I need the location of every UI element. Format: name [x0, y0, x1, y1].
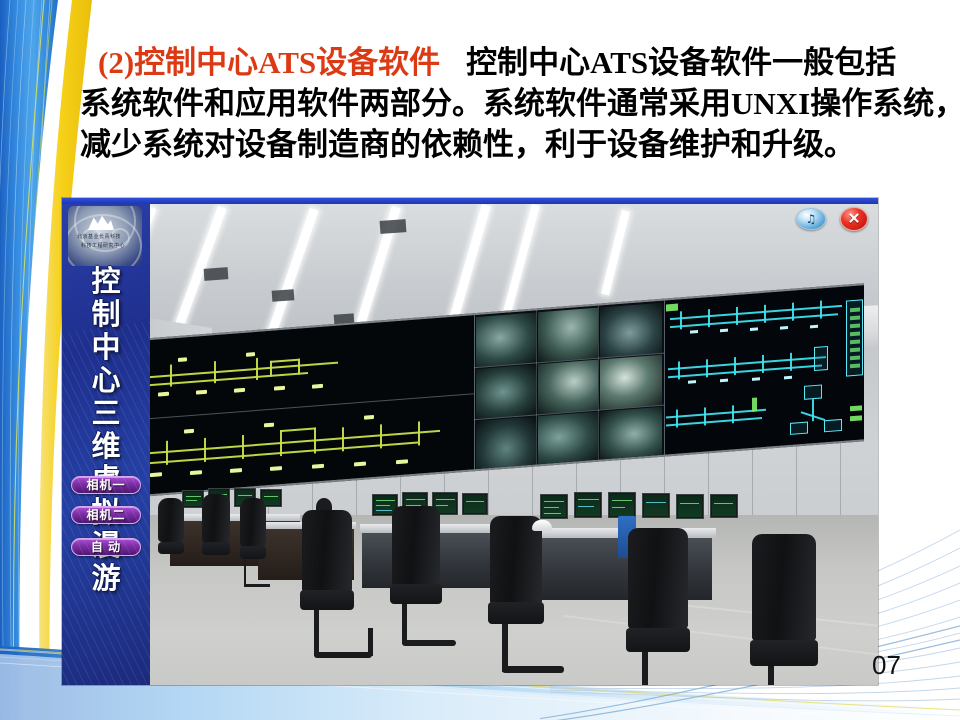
text-line-1-rest: 控制中心ATS设备软件一般包括 — [466, 45, 896, 80]
viewer-control-panel: 北京基业长青科技 科技工程研究中心 控 制 中 心 三 维 虚 拟 漫 游 相机… — [62, 204, 150, 685]
page-number: 07 — [872, 650, 901, 681]
slide-body-text: (2)控制中心ATS设备软件控制中心ATS设备软件一般包括 系统软件和应用软件两… — [80, 42, 940, 165]
logo-text-line-1: 北京基业长青科技 — [77, 233, 121, 240]
music-note-icon: ♫ — [806, 213, 817, 225]
close-window-button[interactable]: ✕ — [840, 207, 868, 231]
title-char-4: 三 — [78, 398, 134, 431]
title-char-0: 控 — [78, 266, 134, 299]
chair — [202, 494, 230, 560]
title-char-8: 漫 — [78, 530, 134, 563]
chair — [628, 528, 688, 664]
chair — [158, 498, 184, 558]
title-char-6: 虚 — [78, 464, 134, 497]
title-char-5: 维 — [78, 431, 134, 464]
screenshot-titlebar — [62, 198, 878, 204]
organization-logo: 北京基业长青科技 科技工程研究中心 — [68, 206, 142, 266]
hardhat — [532, 520, 552, 531]
text-line-3: 减少系统对设备制造商的依赖性，利于设备维护和升级。 — [80, 124, 940, 165]
chair — [392, 506, 440, 614]
sound-toggle-button[interactable]: ♫ — [796, 208, 826, 230]
text-line-2: 系统软件和应用软件两部分。系统软件通常采用UNXI操作系统， — [80, 83, 940, 124]
camera-one-button[interactable]: 相机一 — [71, 476, 141, 494]
logo-text-line-2: 科技工程研究中心 — [81, 242, 125, 249]
title-char-1: 制 — [78, 299, 134, 332]
title-char-7: 拟 — [78, 497, 134, 530]
slide-canvas: (2)控制中心ATS设备软件控制中心ATS设备软件一般包括 系统软件和应用软件两… — [0, 0, 960, 720]
title-char-3: 心 — [78, 365, 134, 398]
close-icon: ✕ — [848, 212, 861, 227]
videowall-cctv-section — [474, 301, 664, 470]
title-char-2: 中 — [78, 332, 134, 365]
videowall-signal-diagram-section — [664, 285, 864, 454]
title-char-9: 游 — [78, 563, 134, 596]
text-line-1: (2)控制中心ATS设备软件控制中心ATS设备软件一般包括 — [80, 42, 940, 83]
chair — [302, 510, 352, 622]
viewer-title-vertical: 控 制 中 心 三 维 虚 拟 漫 游 — [78, 266, 134, 596]
camera-two-button[interactable]: 相机二 — [71, 506, 141, 524]
chair — [240, 498, 266, 564]
control-room-screenshot: 北京基业长青科技 科技工程研究中心 控 制 中 心 三 维 虚 拟 漫 游 相机… — [62, 198, 878, 685]
chair — [490, 516, 542, 636]
auto-button[interactable]: 自 动 — [71, 538, 141, 556]
chair — [752, 534, 816, 678]
section-heading: (2)控制中心ATS设备软件 — [98, 45, 440, 80]
control-room-scene — [62, 198, 878, 685]
